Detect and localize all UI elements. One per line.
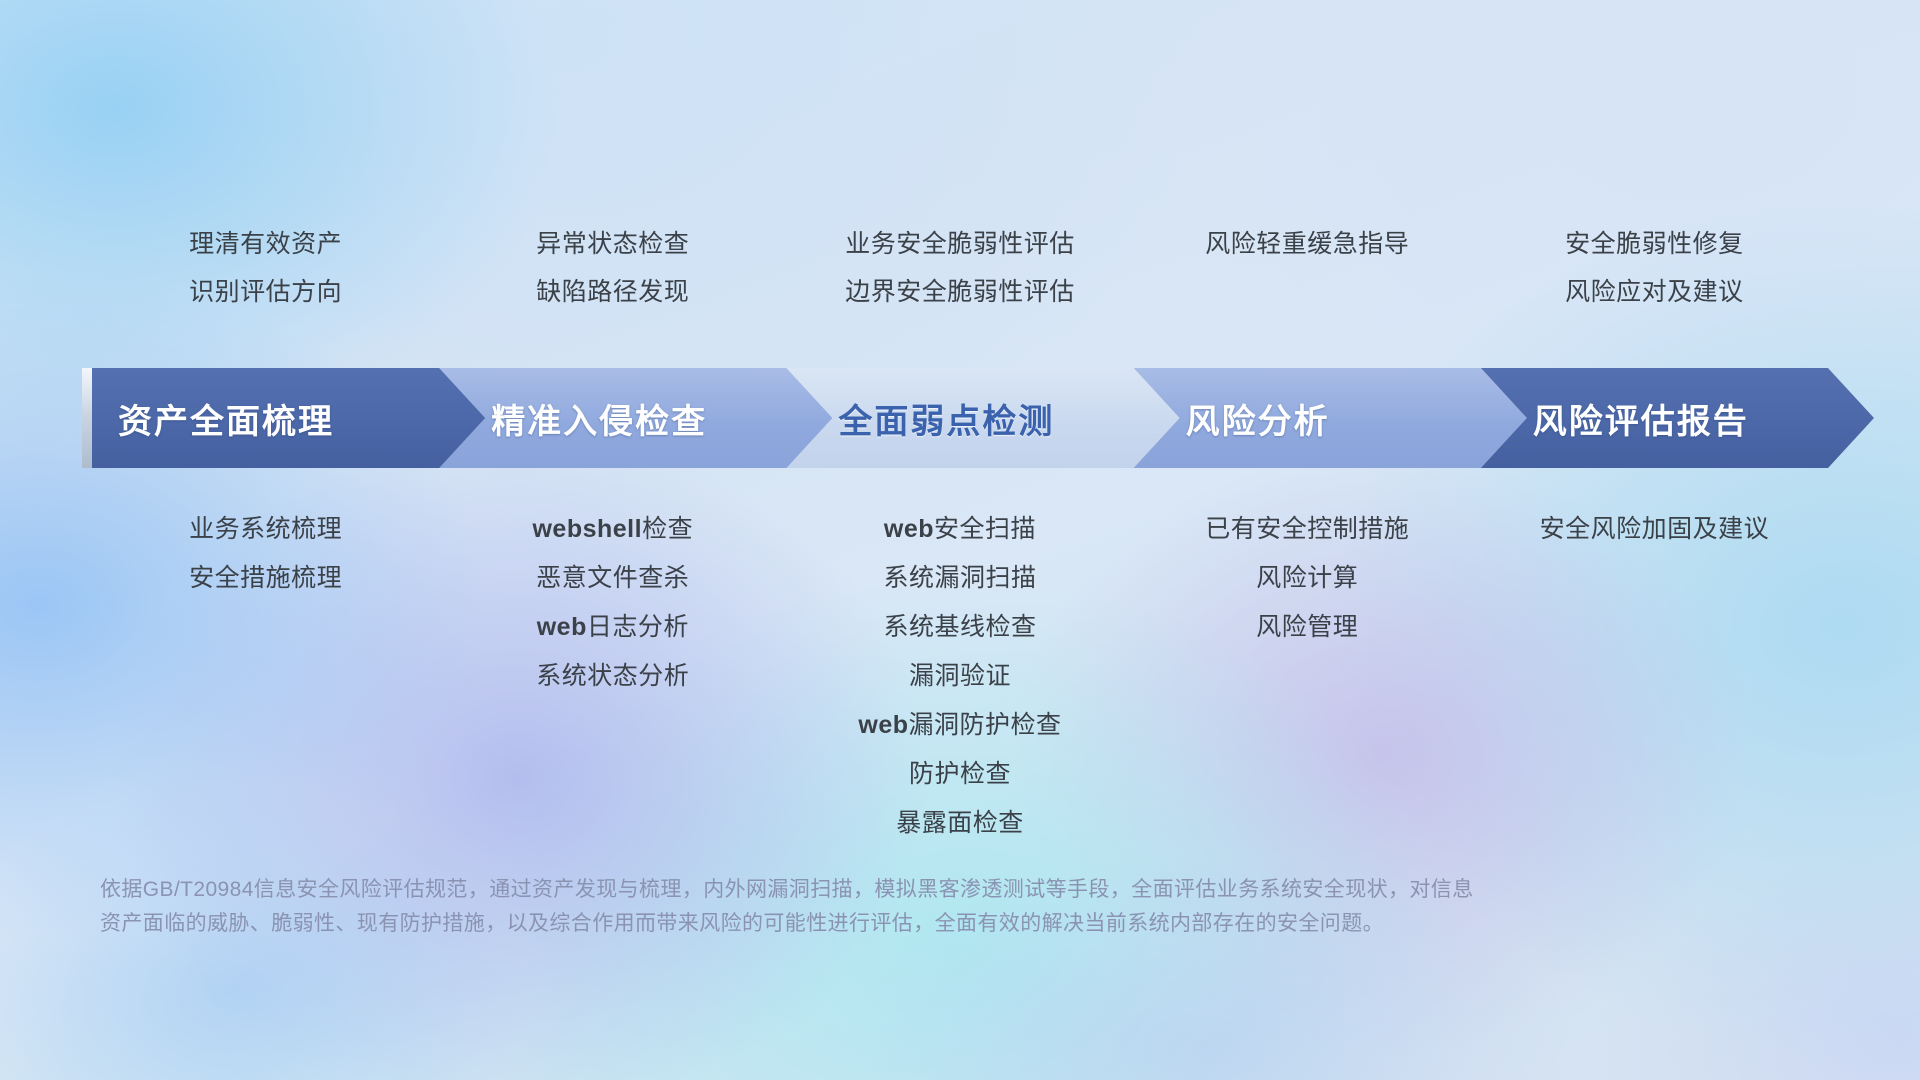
chevron-stage-label-4: 风险分析 <box>1186 394 1330 443</box>
chevron-stage-label-5: 风险评估报告 <box>1533 394 1749 443</box>
top-notes-col-3: 业务安全脆弱性评估 边界安全脆弱性评估 <box>786 220 1133 316</box>
bottom-list-item: 恶意文件查杀 <box>439 554 786 603</box>
top-notes-col-2: 异常状态检查 缺陷路径发现 <box>439 220 786 316</box>
top-notes-col-1: 理清有效资产 识别评估方向 <box>92 220 439 316</box>
bottom-list-item: 系统基线检查 <box>786 603 1133 652</box>
chevron-stage-label-2: 精准入侵检查 <box>491 394 707 443</box>
top-notes-row: 理清有效资产 识别评估方向 异常状态检查 缺陷路径发现 业务安全脆弱性评估 边界… <box>0 220 1920 316</box>
bottom-lists-row: 业务系统梳理安全措施梳理 webshell检查恶意文件查杀web日志分析系统状态… <box>0 505 1920 848</box>
bottom-list-item: 系统漏洞扫描 <box>786 554 1133 603</box>
bottom-list-item-text: 风险计算 <box>1256 564 1358 592</box>
bottom-list-item-text: 安全风险加固及建议 <box>1540 515 1770 543</box>
chevron-stage-label-1: 资产全面梳理 <box>118 394 334 443</box>
bottom-list-item-text: 系统基线检查 <box>883 613 1036 641</box>
chevron-stage-1[interactable]: 资产全面梳理 <box>92 368 485 468</box>
bottom-list-item-text: 暴露面检查 <box>896 809 1024 837</box>
bottom-list-col-4: 已有安全控制措施风险计算风险管理 <box>1134 505 1481 848</box>
bottom-list-item: 暴露面检查 <box>786 799 1133 848</box>
top-note: 异常状态检查 <box>439 220 786 268</box>
bottom-list-item: 风险计算 <box>1134 554 1481 603</box>
bottom-list-item-text: 漏洞防护检查 <box>909 711 1062 739</box>
top-note: 安全脆弱性修复 <box>1481 220 1828 268</box>
chevron-stage-2[interactable]: 精准入侵检查 <box>439 368 832 468</box>
bottom-list-item-keyword: web <box>858 711 908 739</box>
bottom-list-item: webshell检查 <box>439 505 786 554</box>
bottom-list-item: 风险管理 <box>1134 603 1481 652</box>
top-note: 边界安全脆弱性评估 <box>786 268 1133 316</box>
chevron-stage-4[interactable]: 风险分析 <box>1134 368 1527 468</box>
bottom-list-item-text: 系统状态分析 <box>536 662 689 690</box>
bottom-list-item-text: 系统漏洞扫描 <box>883 564 1036 592</box>
footer-description: 依据GB/T20984信息安全风险评估规范，通过资产发现与梳理，内外网漏洞扫描，… <box>100 873 1740 941</box>
bottom-list-item-keyword: web <box>884 515 934 543</box>
bottom-list-item-text: 安全扫描 <box>934 515 1036 543</box>
bottom-list-item: web安全扫描 <box>786 505 1133 554</box>
bottom-list-col-3: web安全扫描系统漏洞扫描系统基线检查漏洞验证web漏洞防护检查防护检查暴露面检… <box>786 505 1133 848</box>
footer-line-1: 依据GB/T20984信息安全风险评估规范，通过资产发现与梳理，内外网漏洞扫描，… <box>100 873 1740 907</box>
bottom-list-item-text: 风险管理 <box>1256 613 1358 641</box>
bottom-list-item-keyword: web <box>537 613 587 641</box>
top-notes-col-5: 安全脆弱性修复 风险应对及建议 <box>1481 220 1828 316</box>
bottom-list-item: 安全措施梳理 <box>92 554 439 603</box>
slide-canvas: 理清有效资产 识别评估方向 异常状态检查 缺陷路径发现 业务安全脆弱性评估 边界… <box>0 0 1920 1080</box>
top-note: 理清有效资产 <box>92 220 439 268</box>
bottom-list-col-2: webshell检查恶意文件查杀web日志分析系统状态分析 <box>439 505 786 848</box>
bottom-list-item: 漏洞验证 <box>786 652 1133 701</box>
top-note: 缺陷路径发现 <box>439 268 786 316</box>
chevron-stage-3[interactable]: 全面弱点检测 <box>786 368 1179 468</box>
top-note: 识别评估方向 <box>92 268 439 316</box>
chevron-stage-label-3: 全面弱点检测 <box>838 394 1054 443</box>
bottom-list-item: web漏洞防护检查 <box>786 701 1133 750</box>
top-note: 风险应对及建议 <box>1481 268 1828 316</box>
bottom-list-item: 业务系统梳理 <box>92 505 439 554</box>
bottom-list-item-text: 漏洞验证 <box>909 662 1011 690</box>
bottom-list-item-text: 检查 <box>642 515 693 543</box>
process-chevron-band: 资产全面梳理精准入侵检查全面弱点检测风险分析风险评估报告 <box>92 368 1828 468</box>
bottom-list-item: 已有安全控制措施 <box>1134 505 1481 554</box>
bottom-list-col-1: 业务系统梳理安全措施梳理 <box>92 505 439 848</box>
top-notes-col-4: 风险轻重缓急指导 <box>1134 220 1481 316</box>
bottom-list-col-5: 安全风险加固及建议 <box>1481 505 1828 848</box>
top-note: 业务安全脆弱性评估 <box>786 220 1133 268</box>
footer-line-2: 资产面临的威胁、脆弱性、现有防护措施，以及综合作用而带来风险的可能性进行评估，全… <box>100 907 1740 941</box>
bottom-list-item-text: 安全措施梳理 <box>189 564 342 592</box>
bottom-list-item-text: 已有安全控制措施 <box>1205 515 1409 543</box>
bottom-list-item-text: 日志分析 <box>587 613 689 641</box>
bottom-list-item: web日志分析 <box>439 603 786 652</box>
bottom-list-item: 防护检查 <box>786 750 1133 799</box>
top-note: 风险轻重缓急指导 <box>1134 220 1481 268</box>
bottom-list-item-keyword: webshell <box>532 515 642 543</box>
chevron-stage-5[interactable]: 风险评估报告 <box>1481 368 1874 468</box>
bottom-list-item: 系统状态分析 <box>439 652 786 701</box>
bottom-list-item-text: 业务系统梳理 <box>189 515 342 543</box>
bottom-list-item-text: 防护检查 <box>909 760 1011 788</box>
bottom-list-item: 安全风险加固及建议 <box>1481 505 1828 554</box>
bottom-list-item-text: 恶意文件查杀 <box>536 564 689 592</box>
